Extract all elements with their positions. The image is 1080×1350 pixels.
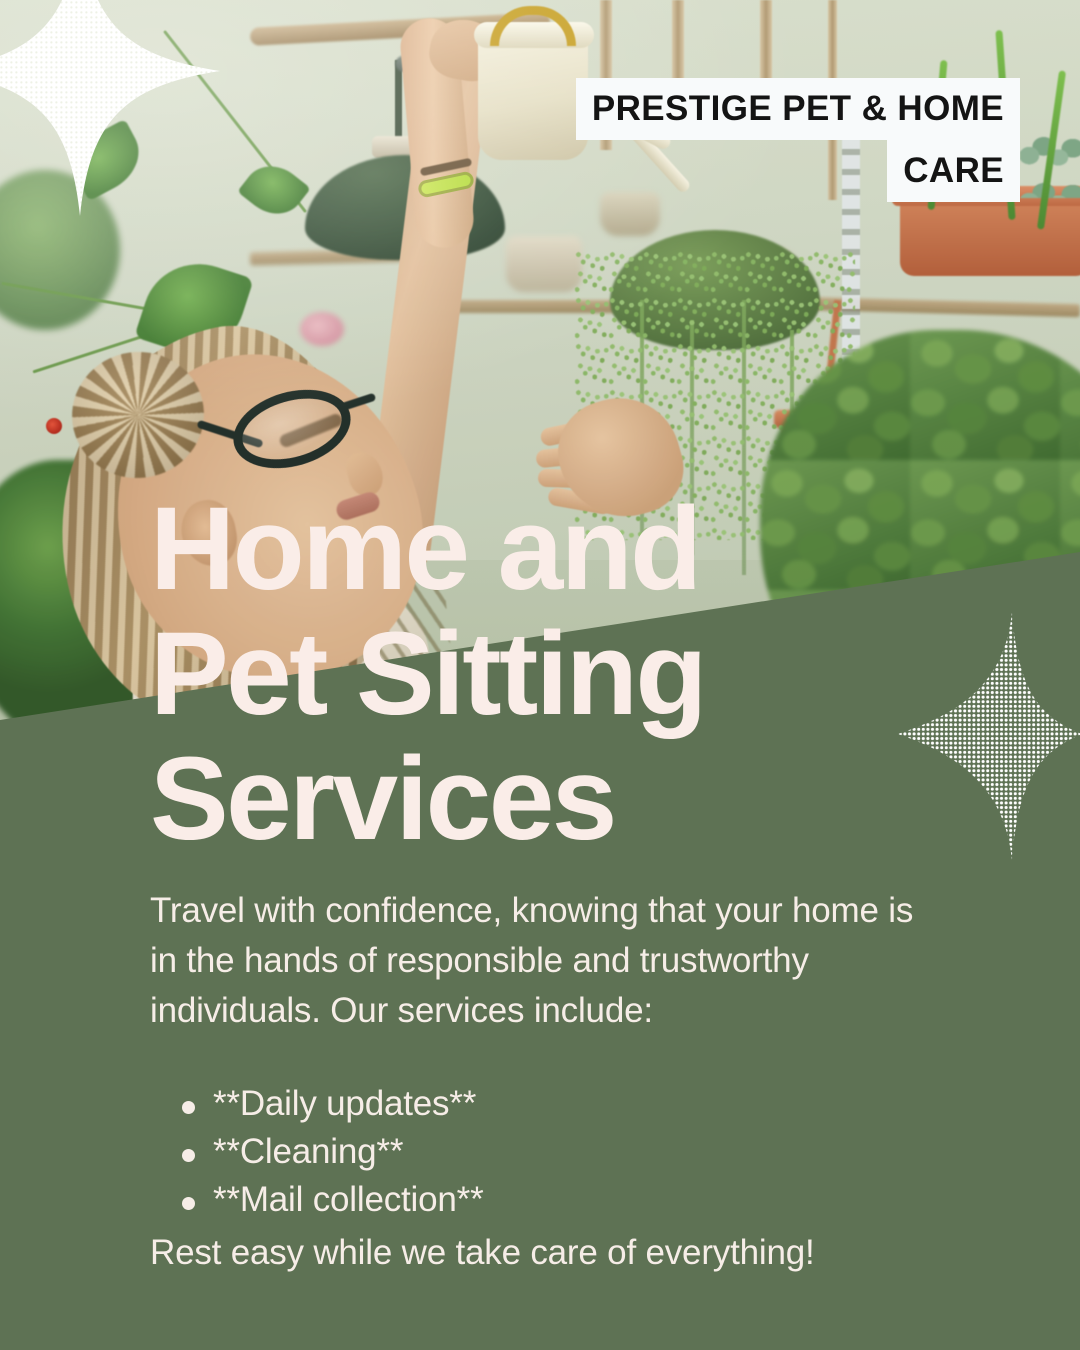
- body-paragraph: Travel with confidence, knowing that you…: [150, 886, 940, 1036]
- brand-logo: PRESTIGE PET & HOME CARE: [576, 78, 1020, 202]
- services-list: **Daily updates** **Cleaning** **Mail co…: [178, 1080, 938, 1224]
- list-item: **Cleaning**: [178, 1128, 938, 1176]
- brand-logo-line-2: CARE: [887, 140, 1020, 202]
- list-item: **Mail collection**: [178, 1176, 938, 1224]
- list-item: **Daily updates**: [178, 1080, 938, 1128]
- page-title: Home and Pet Sitting Services: [150, 487, 970, 862]
- four-point-sparkle-icon: [0, 0, 220, 216]
- brand-logo-line-1: PRESTIGE PET & HOME: [576, 78, 1020, 140]
- social-post-card: PRESTIGE PET & HOME CARE Home and Pet Si…: [0, 0, 1080, 1350]
- closing-line: Rest easy while we take care of everythi…: [150, 1229, 1010, 1277]
